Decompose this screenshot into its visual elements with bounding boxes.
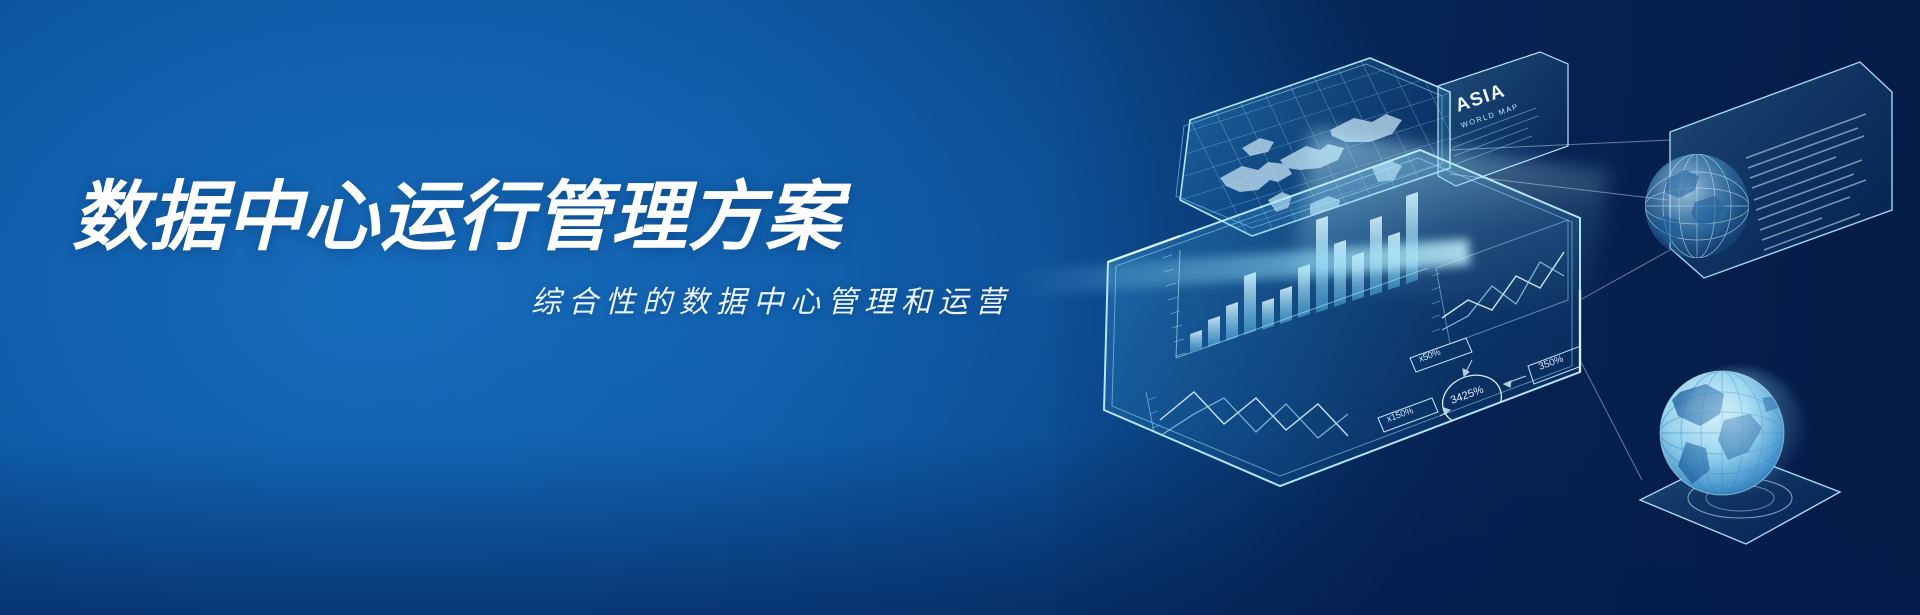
banner-text-block: 数据中心运行管理方案 综合性的数据中心管理和运营 — [72, 178, 1032, 321]
dashboard-panel: 3425% x50% x150% 350% 25% — [1104, 150, 1592, 486]
banner-title: 数据中心运行管理方案 — [72, 178, 1032, 259]
hero-banner: ASIA WORLD MAP — [0, 0, 1920, 615]
main-globe — [1660, 371, 1784, 495]
info-text-panel — [1645, 62, 1892, 278]
hologram-illustration: ASIA WORLD MAP — [980, 0, 1920, 615]
flow-node-3-value: 25% — [1463, 436, 1486, 453]
panel-globe — [1645, 154, 1749, 258]
banner-subtitle: 综合性的数据中心管理和运营 — [72, 277, 1032, 321]
